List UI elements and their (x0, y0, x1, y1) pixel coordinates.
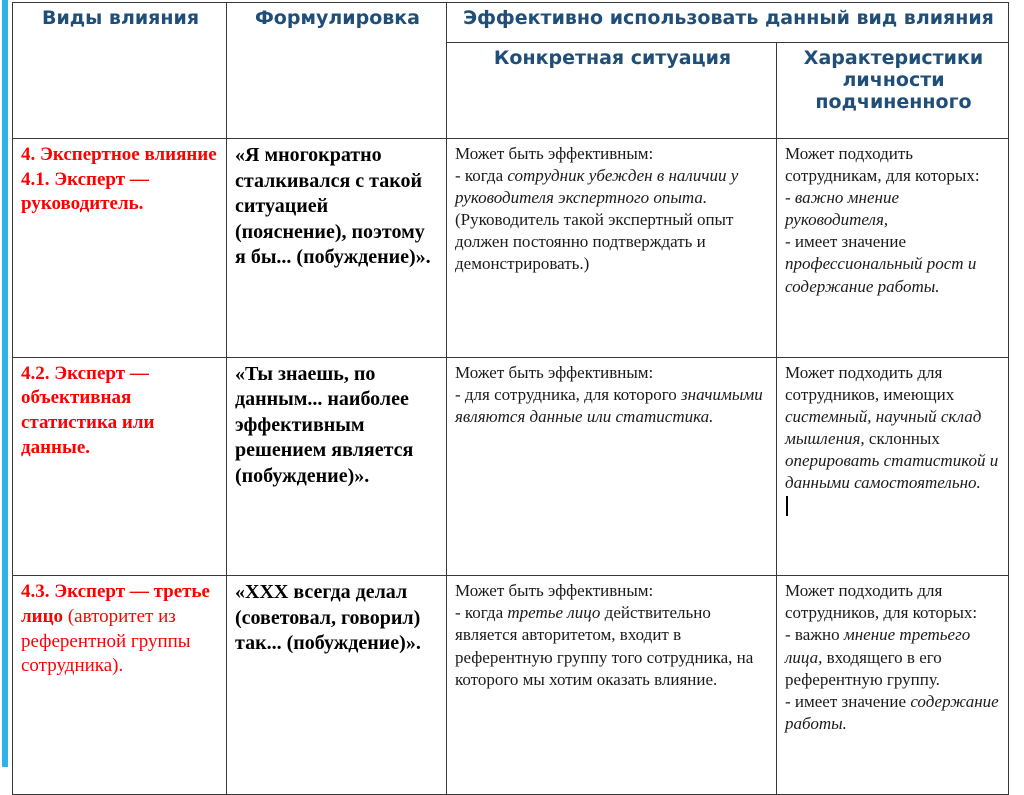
influence-table: Виды влияния Формулировка Эффективно исп… (12, 2, 1009, 795)
cell-traits: Может подходить для сотрудников, для кот… (777, 576, 1009, 795)
accent-stripe (2, 0, 8, 767)
cell-influence-type: 4.3. Эксперт — третье лицо (авторитет из… (13, 576, 227, 795)
influence-type-bold: 4. Экспертное влияние 4.1. Эксперт — рук… (21, 144, 217, 214)
cell-influence-type: 4.2. Эксперт — объективная статистика ил… (13, 357, 227, 576)
situation-lead: Может быть эффективным: (455, 144, 653, 163)
cell-formulation: «Я многократно сталкивался с такой ситуа… (227, 139, 447, 358)
formulation-text: «Я многократно сталкивался с такой ситуа… (235, 144, 431, 268)
header-cell-traits: Характеристики личности подчиненного (777, 42, 1009, 138)
table-body: 4. Экспертное влияние 4.1. Эксперт — рук… (13, 139, 1009, 795)
slide-canvas: Виды влияния Формулировка Эффективно исп… (0, 0, 1024, 767)
cell-influence-type: 4. Экспертное влияние 4.1. Эксперт — рук… (13, 139, 227, 358)
traits-item-plain: - имеет значение (785, 232, 906, 251)
influence-type-bold: 4.2. Эксперт — объективная статистика ил… (21, 363, 154, 458)
header-cell-effective-use: Эффективно использовать данный вид влиян… (447, 3, 1009, 43)
traits-lead: Может подходить для сотрудников, имеющих (785, 363, 954, 404)
traits-item-plain: склонных (869, 429, 940, 448)
situation-dash: - когда (455, 603, 507, 622)
table-row: 4.3. Эксперт — третье лицо (авторитет из… (13, 576, 1009, 795)
traits-item-emphasis: оперировать статистикой и данными самост… (785, 451, 998, 492)
table-row: 4. Экспертное влияние 4.1. Эксперт — рук… (13, 139, 1009, 358)
cell-traits: Может подходить сотрудникам, для которых… (777, 139, 1009, 358)
cell-situation: Может быть эффективным: - когда третье л… (447, 576, 777, 795)
header-cell-formulation: Формулировка (227, 3, 447, 139)
situation-tail: (Руководитель такой экспертный опыт долж… (455, 210, 733, 273)
traits-item-emphasis: важно мнение руководителя, (785, 188, 899, 229)
text-cursor-icon (786, 496, 788, 516)
situation-lead: Может быть эффективным: (455, 363, 653, 382)
traits-lead: Может подходить сотрудникам, для которых… (785, 144, 980, 185)
text-caret-line (785, 496, 1002, 518)
cell-traits: Может подходить для сотрудников, имеющих… (777, 357, 1009, 576)
traits-item-plain: - важно (785, 625, 844, 644)
table-row: 4.2. Эксперт — объективная статистика ил… (13, 357, 1009, 576)
traits-item-plain: - (785, 188, 795, 207)
cell-formulation: «Ты знаешь, по данным... наиболее эффект… (227, 357, 447, 576)
situation-dash: - когда (455, 166, 507, 185)
situation-lead: Может быть эффективным: (455, 581, 653, 600)
situation-emphasis: третье лицо (507, 603, 600, 622)
formulation-text: «ХХХ всегда делал (советовал, говорил) т… (235, 581, 421, 654)
influence-table-container: Виды влияния Формулировка Эффективно исп… (12, 2, 1008, 765)
traits-item-plain: - имеет значение (785, 692, 910, 711)
situation-dash: - для сотрудника, для которого (455, 385, 681, 404)
table-header: Виды влияния Формулировка Эффективно исп… (13, 3, 1009, 139)
header-cell-situation: Конкретная ситуация (447, 42, 777, 138)
header-row-1: Виды влияния Формулировка Эффективно исп… (13, 3, 1009, 43)
traits-lead: Может подходить для сотрудников, для кот… (785, 581, 977, 622)
cell-situation: Может быть эффективным: - когда сотрудни… (447, 139, 777, 358)
cell-formulation: «ХХХ всегда делал (советовал, говорил) т… (227, 576, 447, 795)
header-cell-types: Виды влияния (13, 3, 227, 139)
formulation-text: «Ты знаешь, по данным... наиболее эффект… (235, 363, 413, 487)
traits-item-emphasis: профессиональный рост и содержание работ… (785, 254, 976, 295)
cell-situation: Может быть эффективным: - для сотрудника… (447, 357, 777, 576)
